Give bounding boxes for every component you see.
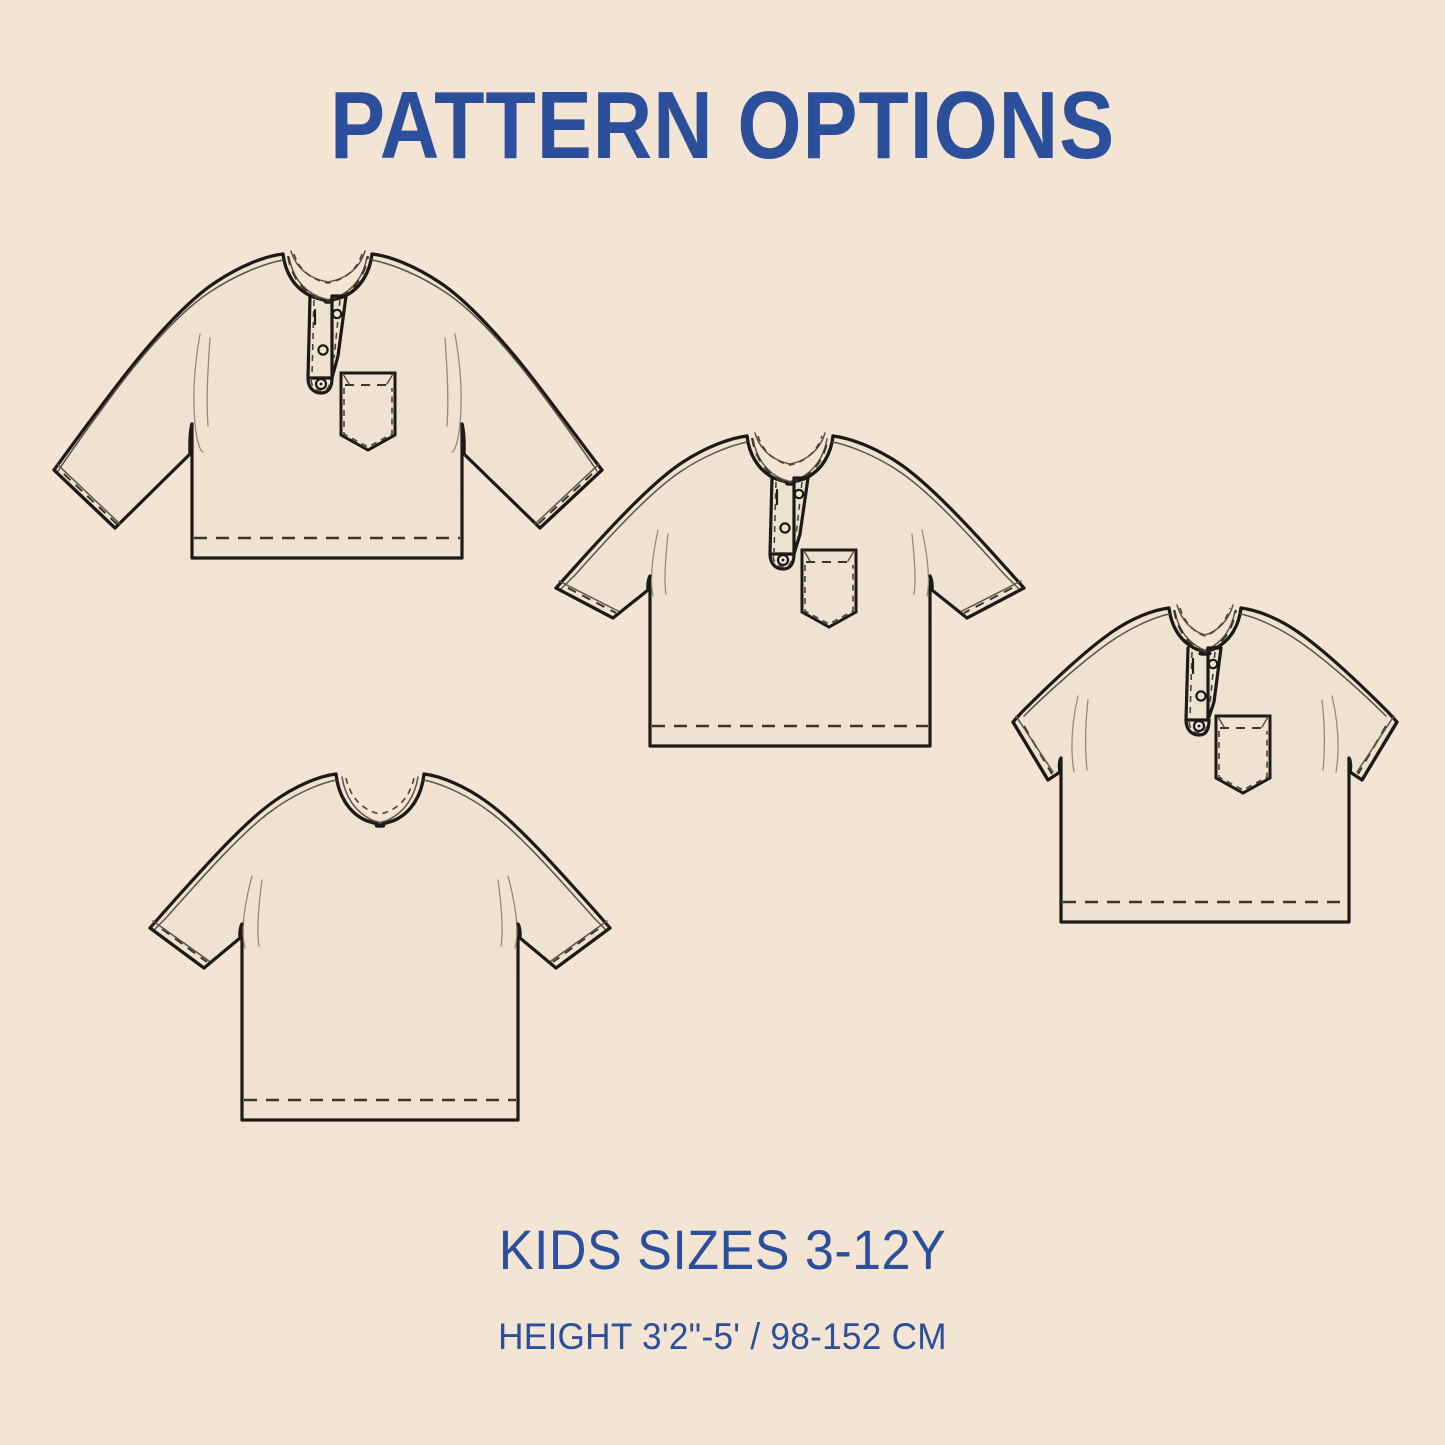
garment-cap-sleeve-henley <box>1000 596 1410 946</box>
cap-sleeve-henley-drawing <box>1013 605 1397 922</box>
long-sleeve-henley-drawing <box>54 251 602 558</box>
kids-sizes-label: KIDS SIZES 3-12Y <box>51 1222 1395 1278</box>
pattern-options-poster: PATTERN OPTIONS <box>0 0 1445 1445</box>
plain-tee-drawing <box>150 774 610 1120</box>
button-1 <box>1209 660 1217 668</box>
patch-pocket-long-sleeve <box>341 373 395 450</box>
button-2 <box>1196 691 1205 700</box>
page-title: PATTERN OPTIONS <box>101 78 1344 174</box>
garment-short-sleeve-henley <box>540 422 1040 772</box>
button-1 <box>333 310 341 318</box>
garment-long-sleeve-henley <box>40 238 620 578</box>
button-2 <box>780 523 789 532</box>
patch-pocket-cap-sleeve <box>1216 716 1270 793</box>
button-2 <box>318 345 327 354</box>
height-range-label: HEIGHT 3'2"-5' / 98-152 CM <box>36 1318 1409 1355</box>
garment-plain-tee <box>140 756 620 1146</box>
patch-pocket-short-sleeve <box>802 550 856 627</box>
button-1 <box>795 490 803 498</box>
short-sleeve-henley-drawing <box>556 433 1024 746</box>
